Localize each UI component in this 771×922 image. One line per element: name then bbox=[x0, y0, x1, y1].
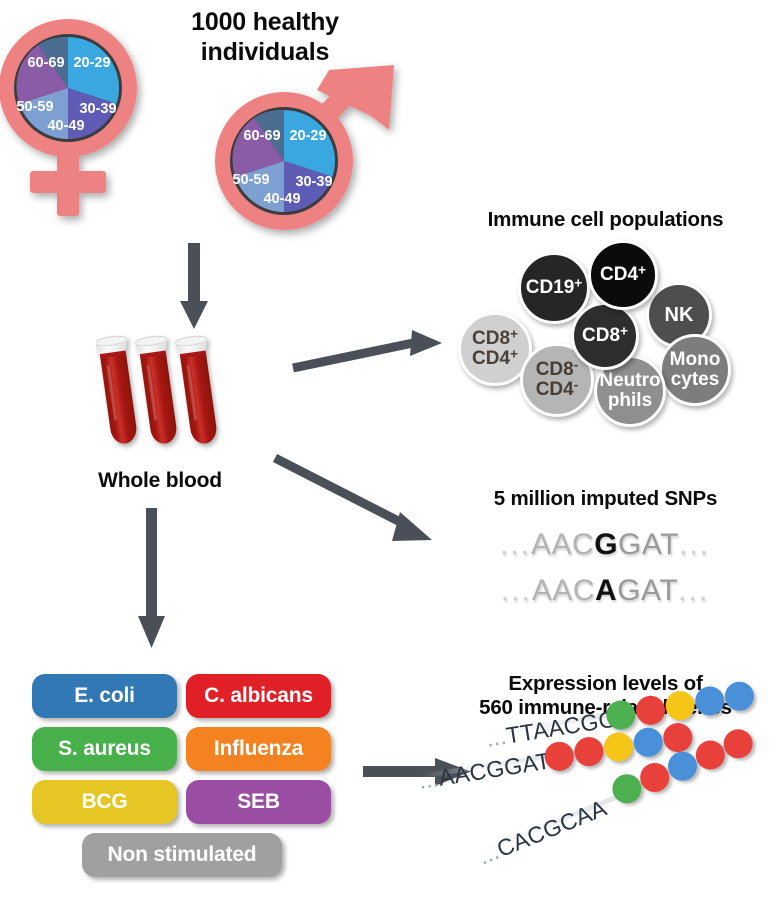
arrow-cohort-to-blood bbox=[178, 243, 210, 333]
blood-tubes bbox=[96, 330, 236, 465]
section-title-snps: 5 million imputed SNPs bbox=[440, 487, 771, 511]
strand-sequence: ...CACGCAA bbox=[475, 795, 611, 871]
section-title-immune-cells: Immune cell populations bbox=[440, 208, 771, 232]
pie-label-20-29: 20-29 bbox=[73, 55, 110, 71]
arrow-blood-to-immune bbox=[290, 330, 450, 380]
snp-suffix-ellipsis: ... bbox=[679, 528, 710, 561]
arrow-blood-to-snps bbox=[272, 450, 452, 550]
immune-cell-label: CD8-CD4- bbox=[536, 360, 579, 399]
pie-label-50-59: 50-59 bbox=[232, 172, 269, 188]
stimulation-bcg[interactable]: BCG bbox=[32, 780, 177, 824]
pie-label-20-29: 20-29 bbox=[289, 128, 326, 144]
stimulation-influenza[interactable]: Influenza bbox=[186, 727, 331, 771]
stimulation-row: S. aureusInfluenza bbox=[32, 727, 332, 771]
snp-right-bases: GAT bbox=[617, 574, 678, 607]
immune-cell-label: Monocytes bbox=[670, 350, 721, 389]
immune-cell-label: Neutrophils bbox=[599, 371, 660, 410]
stimulation-s-aureus[interactable]: S. aureus bbox=[32, 727, 177, 771]
immune-cell-label: CD4+ bbox=[600, 265, 646, 285]
stimulation-row: Non stimulated bbox=[32, 833, 332, 877]
gene-expression-strands: ...TTAACGG...AACGGAT...CACGCAA bbox=[430, 722, 771, 922]
stimulation-row: BCGSEB bbox=[32, 780, 332, 824]
pie-label-30-39: 30-39 bbox=[295, 174, 332, 190]
snp-right-bases: GAT bbox=[618, 528, 679, 561]
pie-label-60-69: 60-69 bbox=[243, 128, 280, 144]
snp-sequence-allele-a: ...AACAGAT... bbox=[455, 574, 755, 608]
immune-cell-label: CD8+CD4+ bbox=[472, 329, 518, 368]
snp-prefix-ellipsis: ... bbox=[500, 528, 531, 561]
snp-left-bases: AAC bbox=[532, 574, 595, 607]
snp-suffix-ellipsis: ... bbox=[678, 574, 709, 607]
stimulation-label: C. albicans bbox=[204, 684, 313, 708]
pie-label-30-39: 30-39 bbox=[79, 101, 116, 117]
stimulation-label: SEB bbox=[237, 790, 280, 814]
immune-cell-label: CD8+ bbox=[582, 326, 628, 346]
label-whole-blood: Whole blood bbox=[60, 469, 260, 494]
snp-prefix-ellipsis: ... bbox=[501, 574, 532, 607]
blood-tube bbox=[135, 335, 182, 446]
immune-cell-cd8p[interactable]: CD8+ bbox=[571, 302, 639, 370]
blood-tube bbox=[175, 335, 222, 446]
strand-bases: CACGCAA bbox=[493, 795, 610, 863]
snp-variant-base: G bbox=[594, 528, 618, 561]
pie-label-60-69: 60-69 bbox=[27, 55, 64, 71]
figure-canvas: 1000 healthy individuals Immune cell pop… bbox=[0, 0, 771, 922]
snp-variant-base: A bbox=[595, 574, 617, 607]
immune-cell-cluster: CD8+CD4+CD19+CD4+NKCD8+MonocytesCD8-CD4-… bbox=[452, 236, 771, 426]
stimulation-label: BCG bbox=[81, 790, 127, 814]
snp-sequence-allele-g: ...AACGGAT... bbox=[455, 528, 755, 562]
pie-label-40-49: 40-49 bbox=[47, 118, 84, 134]
immune-cell-monocytes[interactable]: Monocytes bbox=[659, 334, 731, 406]
stimulation-label: Non stimulated bbox=[108, 843, 257, 867]
female-symbol-pie-chart: 20-29 30-39 40-49 50-59 60-69 bbox=[8, 10, 198, 230]
blood-tube bbox=[96, 335, 141, 446]
pie-label-40-49: 40-49 bbox=[263, 191, 300, 207]
stimulation-non-stimulated[interactable]: Non stimulated bbox=[82, 833, 282, 877]
stimulation-label: E. coli bbox=[74, 684, 134, 708]
stimulation-row: E. coliC. albicans bbox=[32, 674, 332, 718]
stimulation-label: S. aureus bbox=[58, 737, 151, 761]
stimulation-c-albicans[interactable]: C. albicans bbox=[186, 674, 331, 718]
immune-cell-label: CD19+ bbox=[526, 278, 583, 298]
immune-cell-label: NK bbox=[665, 305, 694, 326]
male-symbol-pie-chart: 20-29 30-39 40-49 50-59 60-69 bbox=[208, 58, 403, 253]
immune-cell-cd4p[interactable]: CD4+ bbox=[588, 240, 658, 310]
snp-sequences: ...AACGGAT... ...AACAGAT... bbox=[455, 528, 755, 623]
pie-label-50-59: 50-59 bbox=[16, 99, 53, 115]
stimulation-conditions-grid: E. coliC. albicansS. aureusInfluenzaBCGS… bbox=[32, 674, 332, 886]
stimulation-seb[interactable]: SEB bbox=[186, 780, 331, 824]
snp-left-bases: AAC bbox=[531, 528, 594, 561]
arrow-blood-to-stimulations bbox=[134, 508, 170, 648]
stimulation-e-coli[interactable]: E. coli bbox=[32, 674, 177, 718]
stimulation-label: Influenza bbox=[214, 737, 303, 761]
